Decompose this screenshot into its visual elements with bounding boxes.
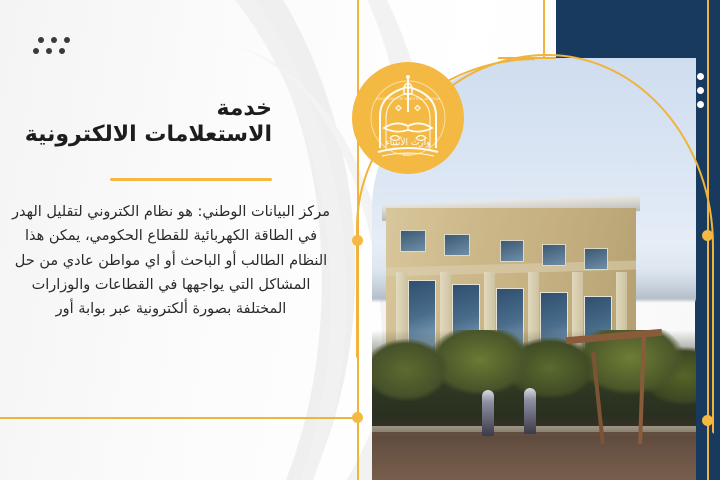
university-logo: UNIVERSITY OF WARITH AL-ANBIYAA وارث الأ… (352, 62, 464, 174)
dark-dot-decoration (38, 37, 44, 43)
dark-dot-decoration (46, 48, 52, 54)
slide-canvas: UNIVERSITY OF WARITH AL-ANBIYAA وارث الأ… (0, 0, 720, 480)
logo-english-text: UNIVERSITY OF WARITH AL-ANBIYAA (376, 97, 441, 101)
white-dot-decoration (697, 101, 704, 108)
dark-dot-decoration (33, 48, 39, 54)
title-underline (110, 178, 272, 181)
warith-al-anbiyaa-emblem-icon: UNIVERSITY OF WARITH AL-ANBIYAA وارث الأ… (360, 70, 456, 166)
dark-dot-decoration (51, 37, 57, 43)
gold-dot-marker (702, 415, 713, 426)
title-line-primary: خدمة (0, 96, 330, 122)
gold-guide-line-horizontal-top (498, 57, 556, 59)
white-dot-decoration (697, 87, 704, 94)
title-line-secondary: الاستعلامات الالكترونية (0, 122, 330, 148)
page-title: خدمة الاستعلامات الالكترونية (0, 96, 330, 148)
gold-guide-line-horizontal (0, 417, 360, 419)
gold-dot-marker (352, 235, 363, 246)
logo-arabic-text: وارث الأنبياء (385, 136, 430, 148)
gold-dot-marker (352, 412, 363, 423)
logo-year-text: 2017 (403, 152, 414, 157)
gold-guide-line-vertical-short (543, 0, 545, 58)
gold-dot-marker (702, 230, 713, 241)
dark-dot-decoration (59, 48, 65, 54)
white-dot-decoration (697, 73, 704, 80)
photo-ground (372, 432, 696, 480)
body-paragraph: مركز البيانات الوطني: هو نظام الكتروني ل… (6, 200, 336, 322)
dark-dot-decoration (64, 37, 70, 43)
